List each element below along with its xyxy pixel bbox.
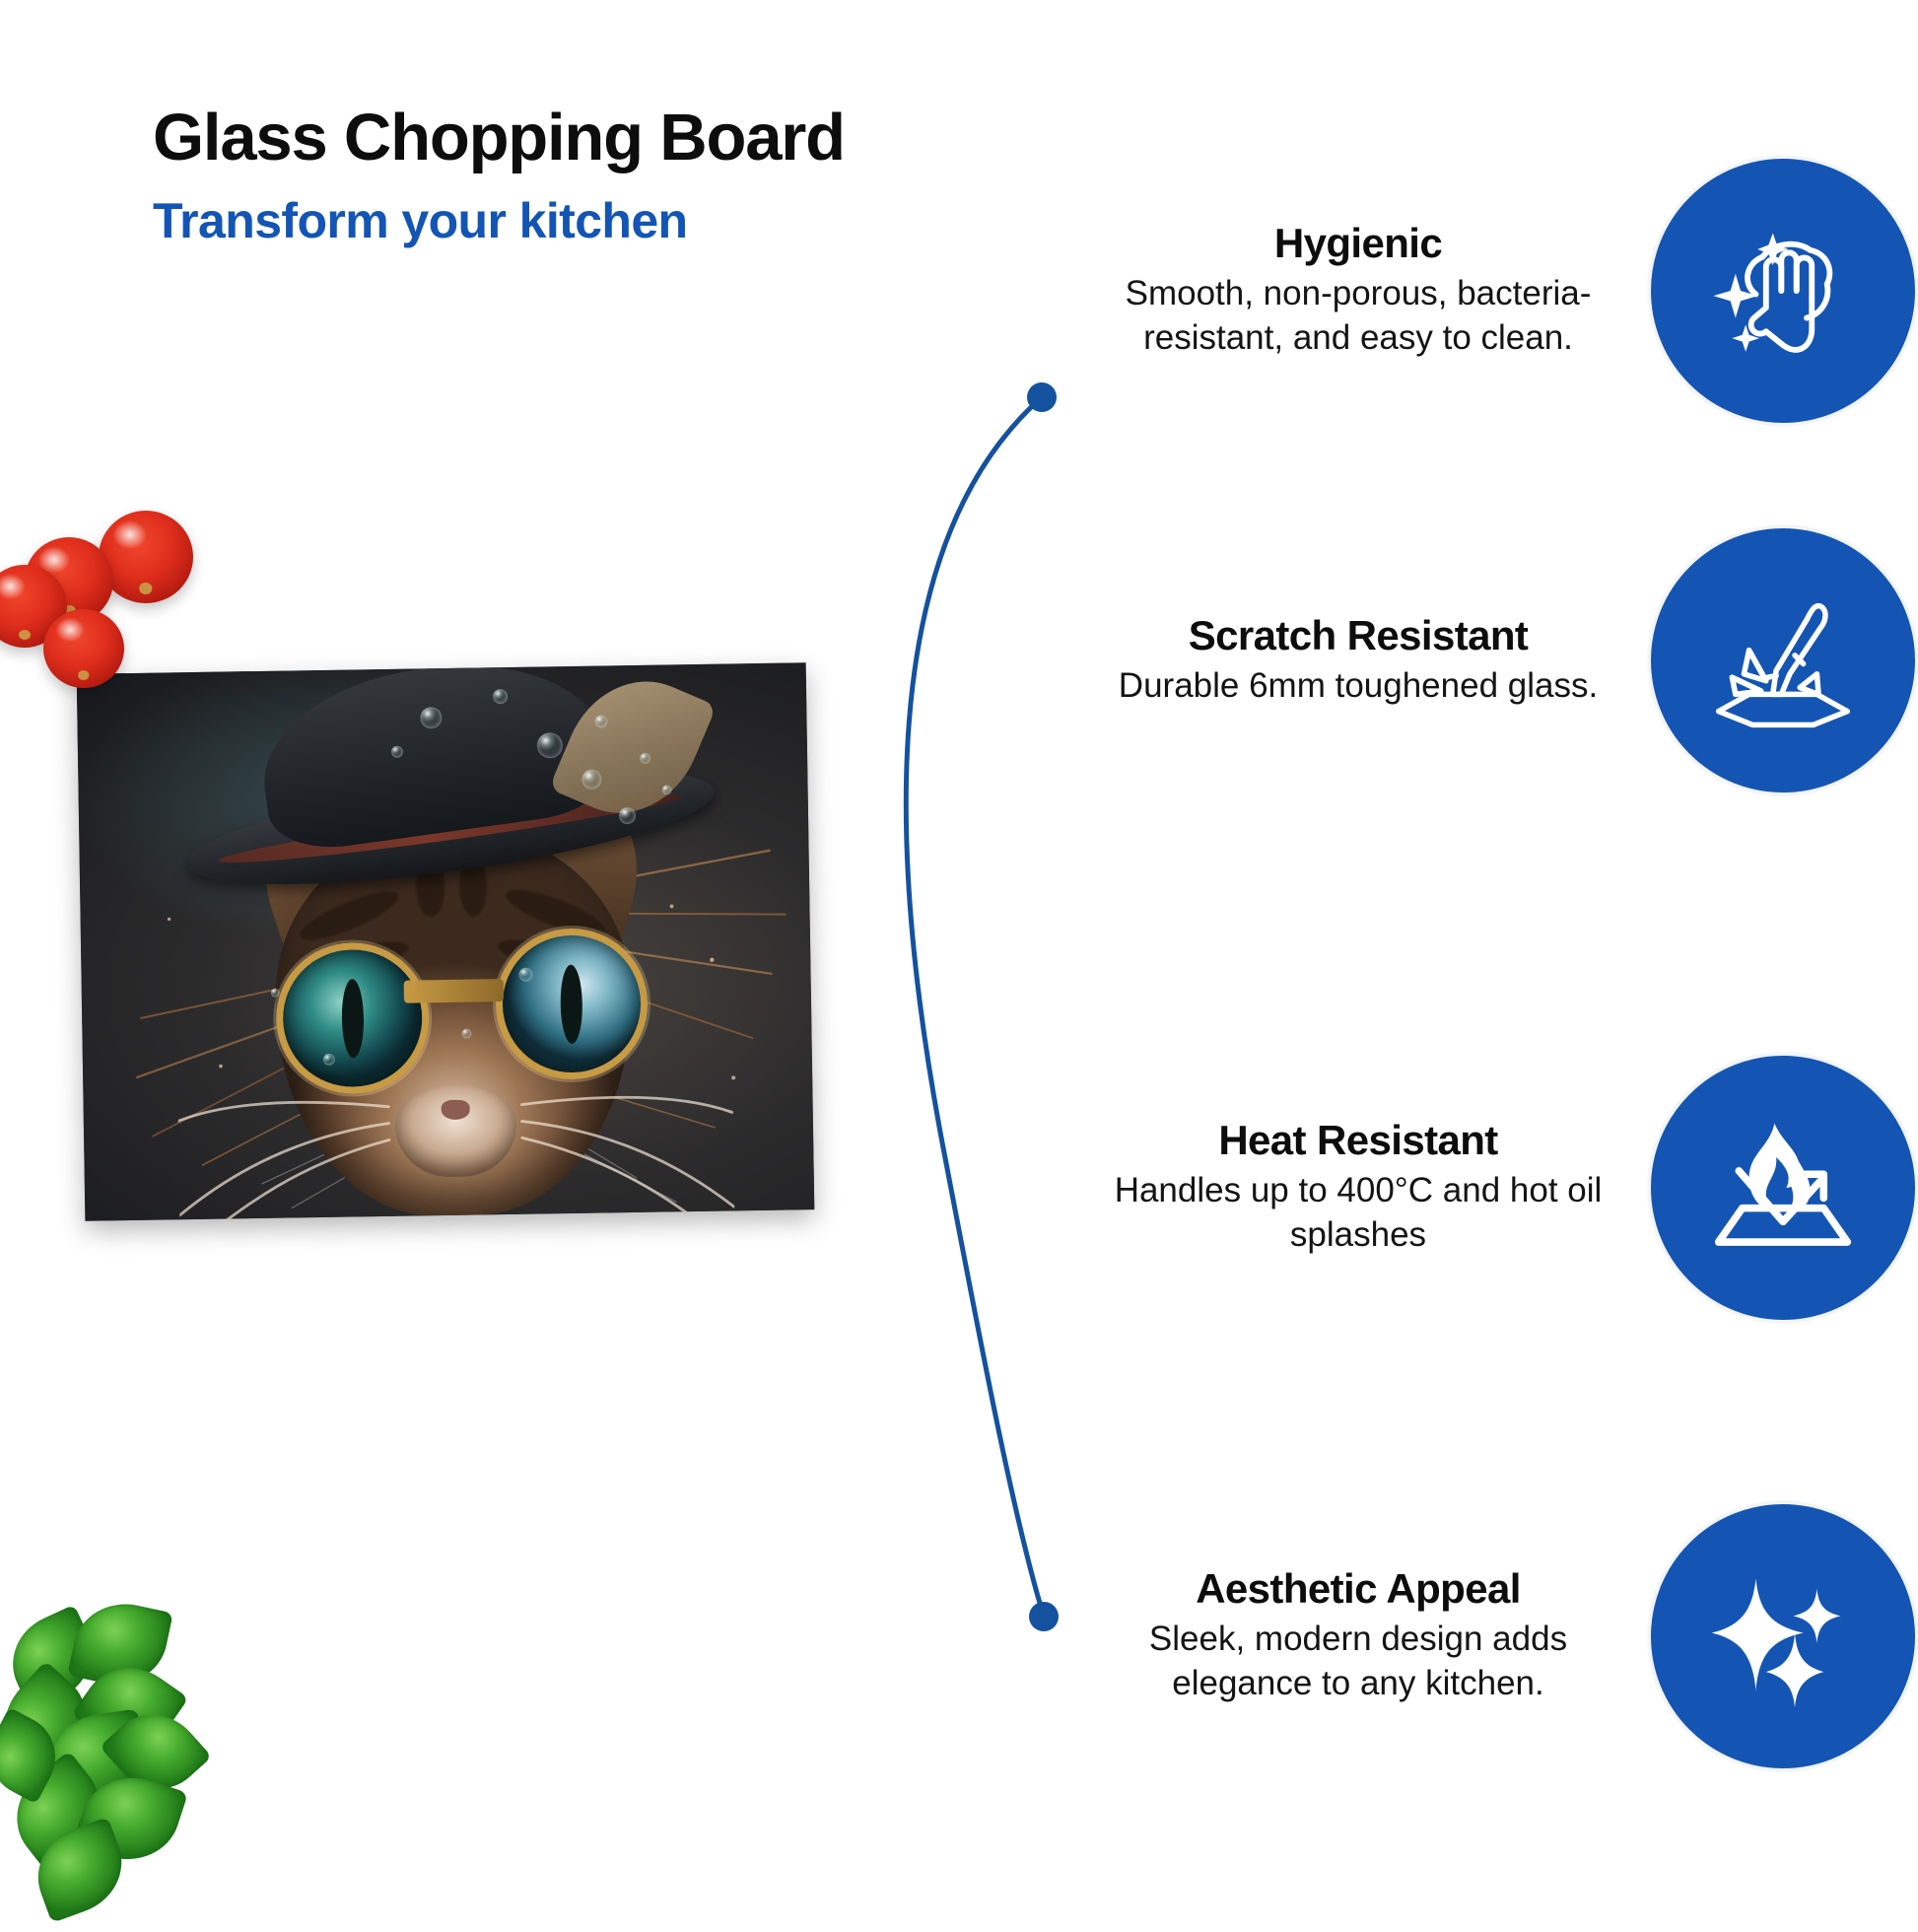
feature-title: Aesthetic Appeal <box>1102 1566 1614 1612</box>
parsley-garnish <box>0 1597 298 1932</box>
hand-wipe-sparkle-icon <box>1648 156 1918 426</box>
feature-item-scratch-resistant[interactable]: Scratch Resistant Durable 6mm toughened … <box>1045 513 1918 808</box>
glass-chopping-board-image <box>77 662 815 1221</box>
feature-text-block: Aesthetic Appeal Sleek, modern design ad… <box>1102 1566 1614 1706</box>
feature-text-block: Heat Resistant Handles up to 400°C and h… <box>1102 1118 1614 1258</box>
feature-description: Durable 6mm toughened glass. <box>1102 664 1614 709</box>
water-droplets <box>77 662 815 1221</box>
cherry-tomato <box>43 609 124 688</box>
feature-description: Sleek, modern design adds elegance to an… <box>1102 1618 1614 1706</box>
infographic-canvas: Glass Chopping Board Transform your kitc… <box>0 0 1918 1918</box>
feature-title: Heat Resistant <box>1102 1118 1614 1163</box>
knife-impact-surface-icon <box>1648 525 1918 795</box>
page-subtitle: Transform your kitchen <box>153 194 1138 248</box>
feature-title: Scratch Resistant <box>1102 613 1614 658</box>
product-image-group <box>0 591 887 1321</box>
page-title: Glass Chopping Board <box>153 103 1138 172</box>
feature-description: Handles up to 400°C and hot oil splashes <box>1102 1169 1614 1258</box>
flame-deflect-surface-icon <box>1648 1053 1918 1323</box>
feature-text-block: Scratch Resistant Durable 6mm toughened … <box>1102 613 1614 709</box>
sparkles-icon <box>1648 1501 1918 1771</box>
features-list: Hygienic Smooth, non-porous, bacteria-re… <box>1045 0 1918 1918</box>
feature-item-aesthetic-appeal[interactable]: Aesthetic Appeal Sleek, modern design ad… <box>1045 1488 1918 1784</box>
feature-title: Hygienic <box>1102 221 1614 266</box>
header-block: Glass Chopping Board Transform your kitc… <box>153 103 1138 248</box>
feature-item-heat-resistant[interactable]: Heat Resistant Handles up to 400°C and h… <box>1045 1040 1918 1336</box>
cherry-tomato <box>99 511 193 603</box>
feature-item-hygienic[interactable]: Hygienic Smooth, non-porous, bacteria-re… <box>1045 143 1918 439</box>
feature-description: Smooth, non-porous, bacteria-resistant, … <box>1102 272 1614 361</box>
feature-text-block: Hygienic Smooth, non-porous, bacteria-re… <box>1102 221 1614 361</box>
